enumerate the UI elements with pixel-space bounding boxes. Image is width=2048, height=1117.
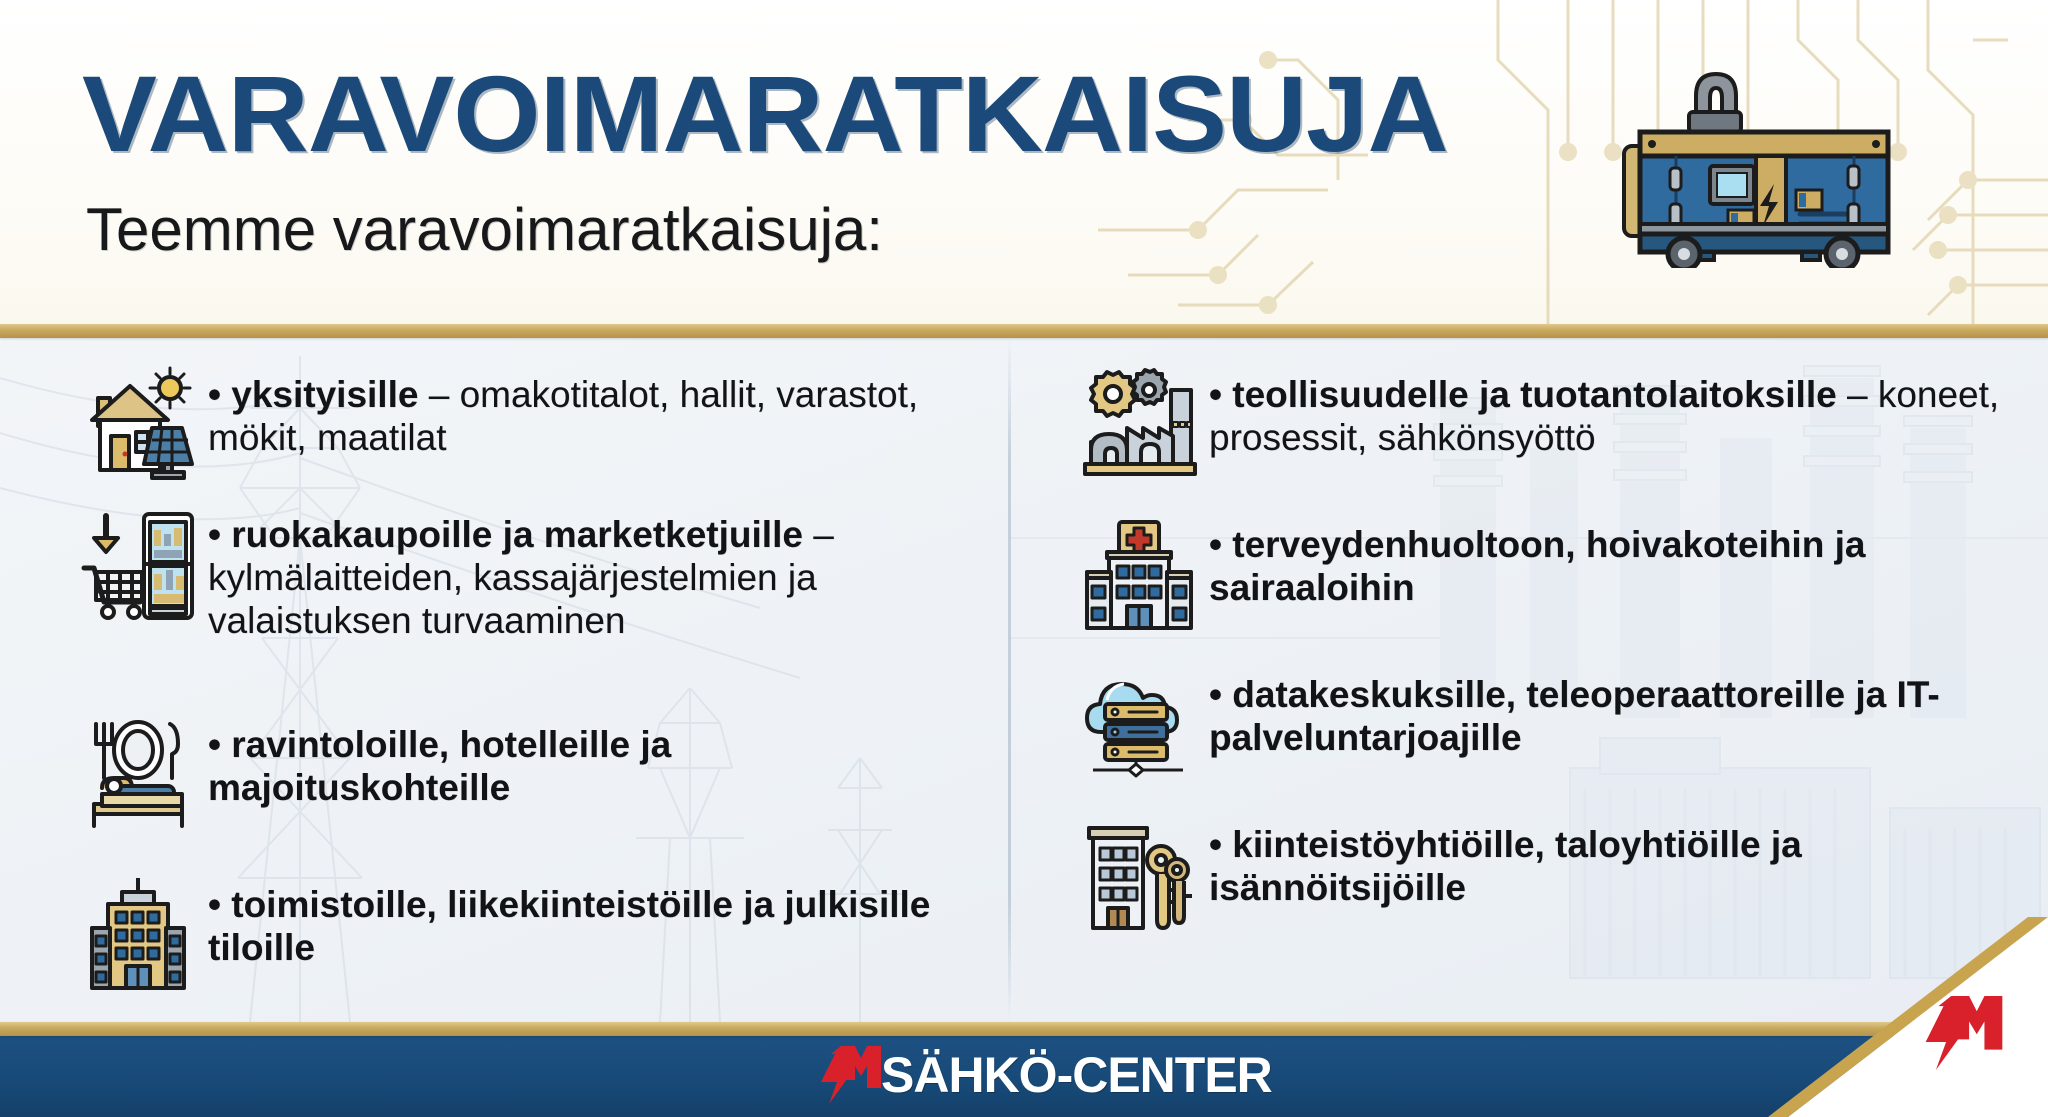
bullet-marker: • [1209,524,1222,565]
list-item-lead: ruokakaupoille ja marketketjuille [231,514,803,555]
left-column: • yksityisille – omakotitalot, hallit, v… [0,338,1008,1022]
cloud-server-icon [1079,666,1199,786]
list-item: • yksityisille – omakotitalot, hallit, v… [78,366,978,486]
list-item-text: • terveydenhuoltoon, hoivakoteihin ja sa… [1209,516,2039,610]
list-item: • ruokakaupoille ja marketketjuille – ky… [78,506,978,643]
list-item-text: • kiinteistöyhtiöille, taloyhtiöille ja … [1209,816,2039,910]
grocery-cart-fridge-icon [78,506,198,626]
list-item-lead: teollisuudelle ja tuotantolaitoksille [1232,374,1836,415]
bullet-marker: • [208,724,221,765]
list-item-lead: kiinteistöyhtiöille, taloyhtiöille ja is… [1209,824,1802,908]
hospital-icon [1079,516,1199,636]
list-item-text: • ruokakaupoille ja marketketjuille – ky… [208,506,978,643]
list-item: • teollisuudelle ja tuotantolaitoksille … [1079,366,2039,486]
footer-wordmark: SÄHKÖ-CENTER [881,1046,1272,1104]
restaurant-hotel-icon [78,716,198,836]
bullet-marker: • [1209,374,1222,415]
list-item-text: • yksityisille – omakotitalot, hallit, v… [208,366,978,460]
list-item-text: • toimistoille, liikekiinteistöille ja j… [208,876,978,970]
list-item-lead: toimistoille, liikekiinteistöille ja jul… [208,884,930,968]
house-solar-panel-icon [78,366,198,486]
list-item-text: • ravintoloille, hotelleille ja majoitus… [208,716,978,810]
list-item-lead: yksityisille [231,374,418,415]
list-item: • terveydenhuoltoon, hoivakoteihin ja sa… [1079,516,2039,636]
bullet-marker: • [208,884,221,925]
office-building-icon [78,876,198,996]
sahko-center-bolt-m-icon [815,1044,887,1106]
corner-sahko-center-bolt-m-icon [1918,993,2010,1073]
bullet-marker: • [208,514,221,555]
list-item-lead: terveydenhuoltoon, hoivakoteihin ja sair… [1209,524,1865,608]
list-item: • ravintoloille, hotelleille ja majoitus… [78,716,978,836]
list-item: • datakeskuksille, teleoperaattoreille j… [1079,666,2039,786]
list-item-text: • datakeskuksille, teleoperaattoreille j… [1209,666,2039,760]
list-item-lead: ravintoloille, hotelleille ja majoitusko… [208,724,671,808]
gold-divider-top [0,324,2048,338]
list-item-lead: datakeskuksille, teleoperaattoreille ja … [1209,674,1940,758]
list-item: • kiinteistöyhtiöille, taloyhtiöille ja … [1079,816,2039,936]
page-title: VARAVOIMARATKAISUJA [82,60,1448,168]
footer-logo: SÄHKÖ-CENTER [815,1044,1272,1106]
list-item: • toimistoille, liikekiinteistöille ja j… [78,876,978,996]
apartment-keys-icon [1079,816,1199,936]
list-item-text: • teollisuudelle ja tuotantolaitoksille … [1209,366,2039,460]
page-subtitle: Teemme varavoimaratkaisuja: [86,200,883,260]
gold-divider-bottom [0,1022,2048,1036]
content-panel: • yksityisille – omakotitalot, hallit, v… [0,338,2048,1022]
slide-root: VARAVOIMARATKAISUJA Teemme varavoimaratk… [0,0,2048,1117]
factory-gears-icon [1079,366,1199,486]
bullet-marker: • [208,374,221,415]
backup-generator-icon [1588,38,1918,268]
bullet-marker: • [1209,674,1222,715]
header-band: VARAVOIMARATKAISUJA Teemme varavoimaratk… [0,0,2048,326]
bullet-marker: • [1209,824,1222,865]
right-column: • teollisuudelle ja tuotantolaitoksille … [1011,338,2048,1022]
